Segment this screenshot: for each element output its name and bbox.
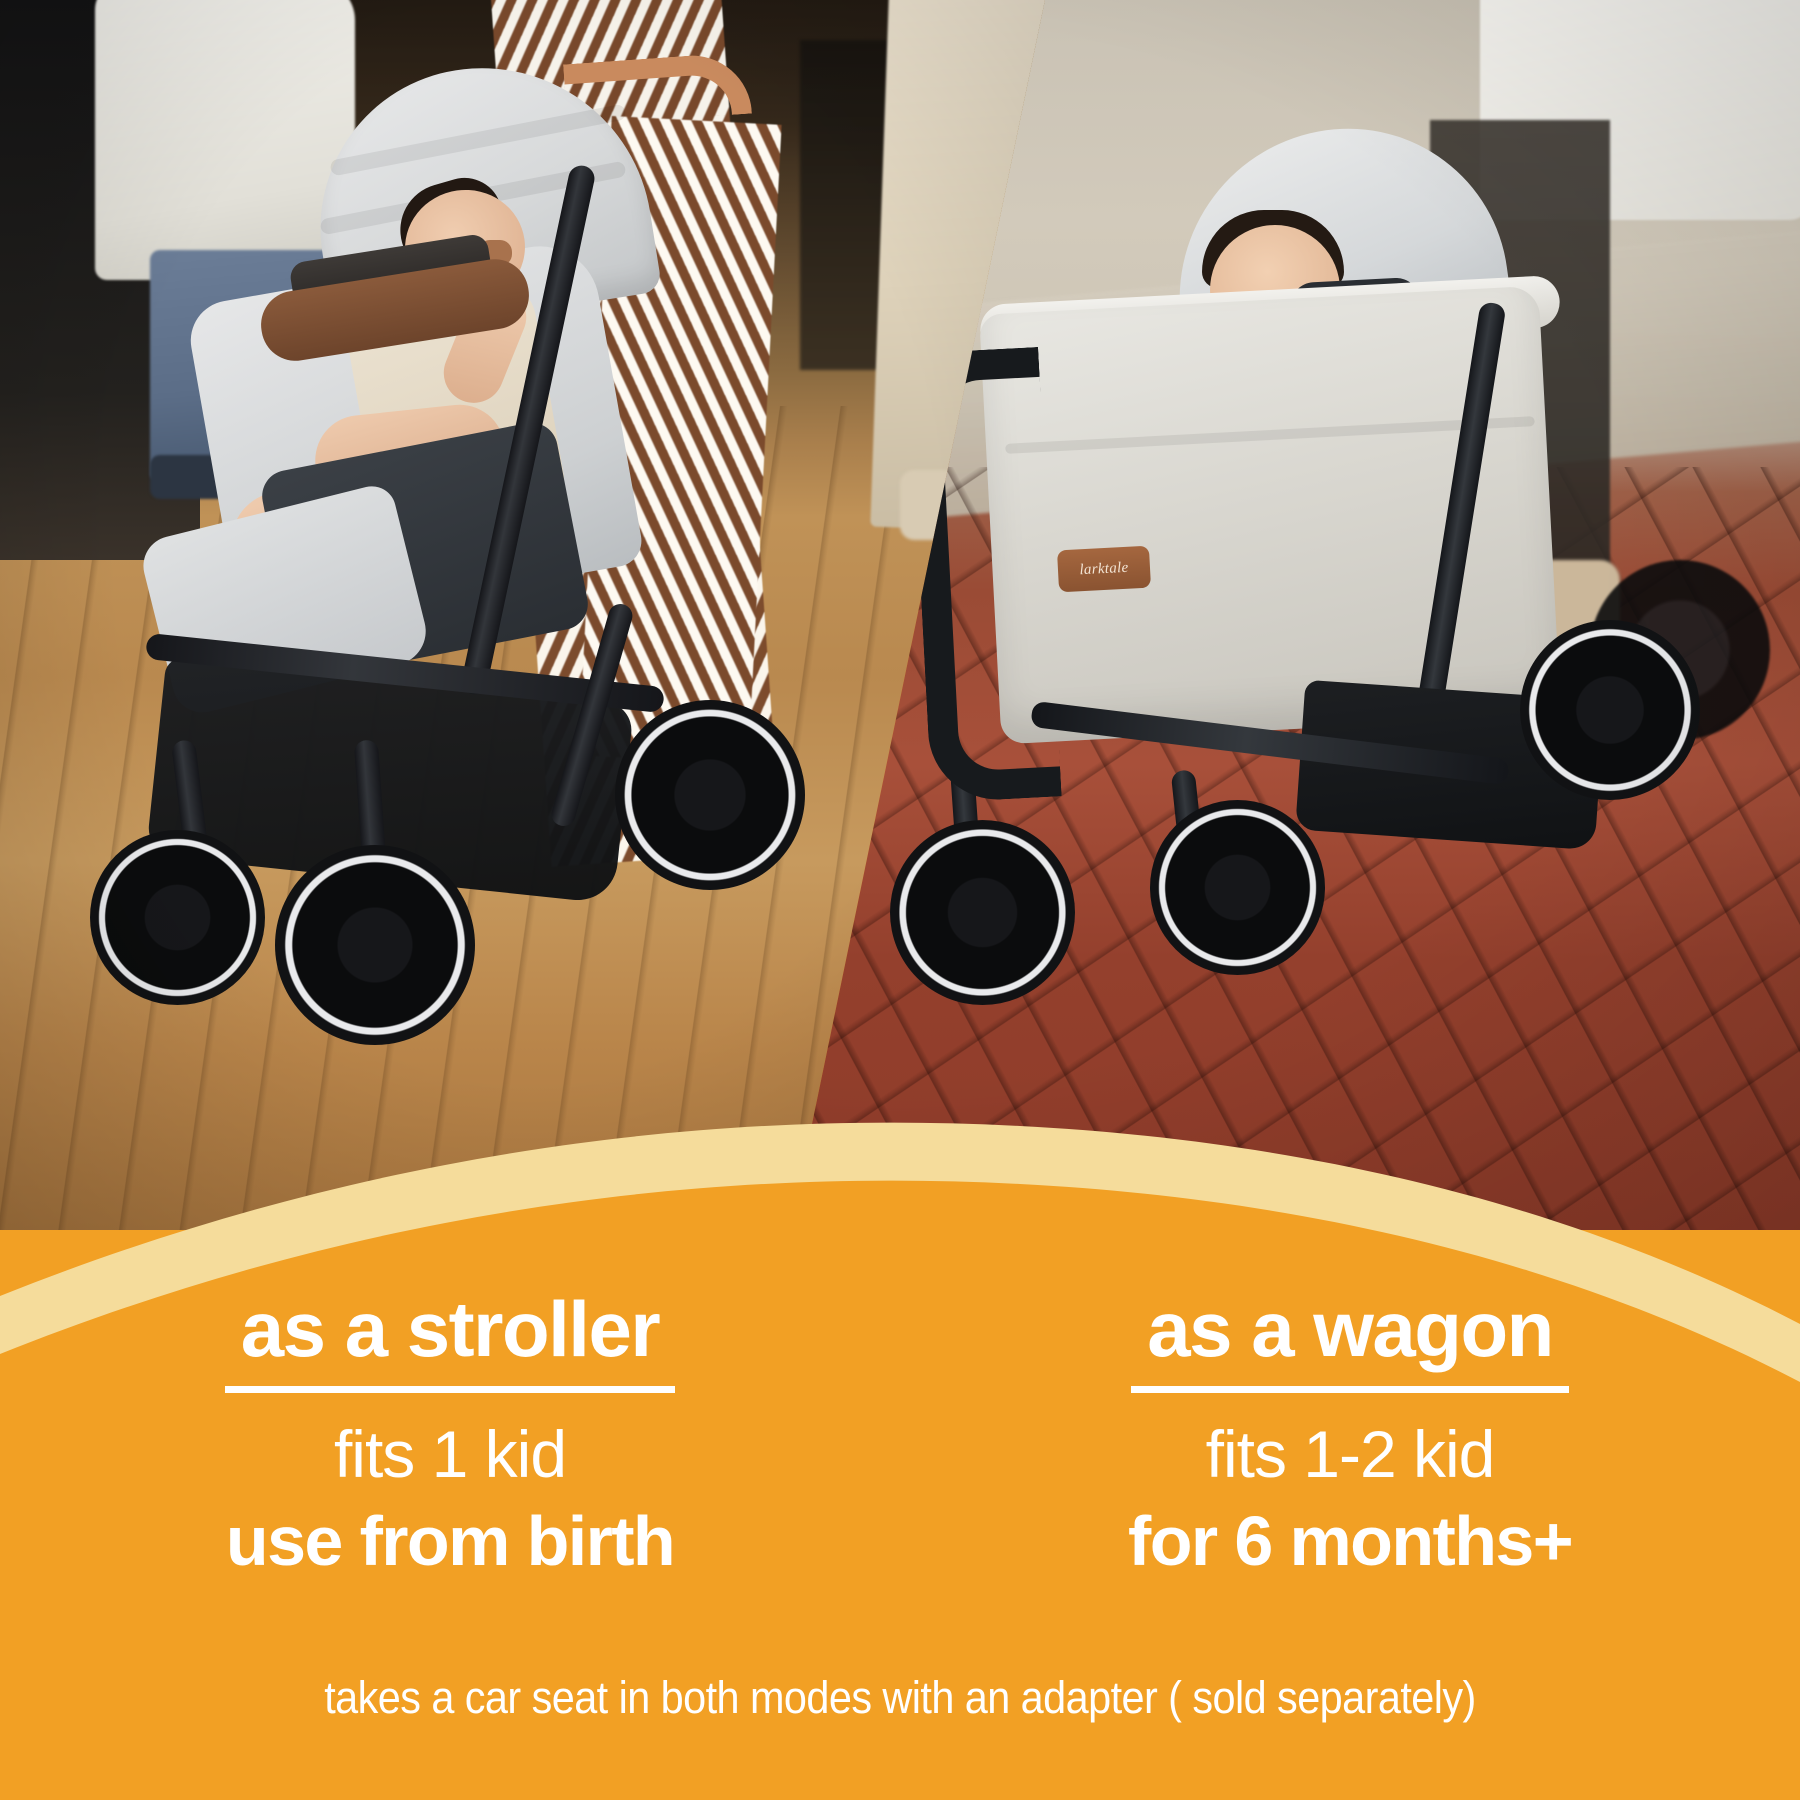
copy-block: as a stroller fits 1 kid use from birth …: [0, 0, 1800, 1800]
feature-columns: as a stroller fits 1 kid use from birth …: [0, 1290, 1800, 1580]
column-stroller-capacity: fits 1 kid: [0, 1419, 900, 1490]
column-stroller-title: as a stroller: [225, 1290, 675, 1393]
column-wagon-age: for 6 months+: [900, 1504, 1800, 1580]
column-wagon-capacity: fits 1-2 kid: [900, 1419, 1800, 1490]
column-wagon-title: as a wagon: [1131, 1290, 1568, 1393]
column-wagon: as a wagon fits 1-2 kid for 6 months+: [900, 1290, 1800, 1580]
column-stroller-age: use from birth: [0, 1504, 900, 1580]
product-feature-poster: larktale as: [0, 0, 1800, 1800]
car-seat-footnote: takes a car seat in both modes with an a…: [72, 1672, 1728, 1724]
column-stroller: as a stroller fits 1 kid use from birth: [0, 1290, 900, 1580]
